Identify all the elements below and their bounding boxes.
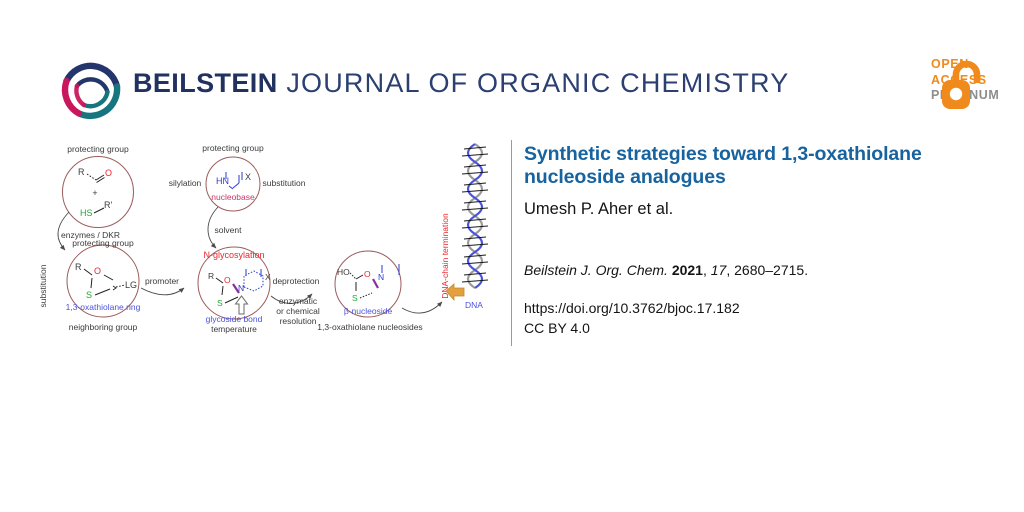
graphical-abstract-scheme: protecting group R O + HS R' enzymes / D… — [34, 136, 504, 351]
atom-S-2: S — [86, 290, 92, 300]
atom-HS-1: HS — [80, 208, 93, 218]
label-deprotection: deprotection — [273, 276, 320, 286]
brand-bold: BEILSTEIN — [133, 68, 278, 98]
arrow-promoter — [141, 288, 184, 295]
label-substitution-right: substitution — [263, 178, 306, 188]
article-doi[interactable]: https://doi.org/10.3762/bjoc.17.182 — [524, 299, 990, 319]
label-temperature: temperature — [211, 324, 257, 334]
atom-S-4: S — [217, 298, 223, 308]
circle-beta-nucleoside: 1,3-oxathiolane nucleosides HO O S N β-n… — [317, 251, 422, 332]
atom-HN-3: HN — [216, 176, 229, 186]
circle-aldehyde-thiol: protecting group R O + HS R' — [63, 144, 134, 228]
beilstein-spiral-logo-svg — [56, 55, 126, 125]
atom-R-4: R — [208, 271, 214, 281]
open-access-badge: OPEN ACCESS PLATINUM — [893, 57, 983, 115]
atom-N-5: N — [378, 272, 384, 282]
plus-sign-1: + — [92, 188, 97, 198]
atom-LG: LG — [125, 280, 137, 290]
label-dna: DNA — [465, 300, 483, 310]
atom-X-3: X — [245, 172, 251, 182]
journal-brand-title: BEILSTEIN JOURNAL OF ORGANIC CHEMISTRY — [133, 68, 789, 99]
citation-comma: , — [703, 262, 707, 278]
atom-R-2: R — [75, 262, 82, 272]
citation-pages: , 2680–2715. — [726, 262, 808, 278]
citation-journal: Beilstein J. Org. Chem. — [524, 262, 668, 278]
page-header: BEILSTEIN JOURNAL OF ORGANIC CHEMISTRY O… — [0, 0, 1024, 132]
circle-n-glycosylation: N-glycosylation temperature R O S N — [198, 247, 271, 334]
atom-S-5: S — [352, 293, 358, 303]
article-citation: Beilstein J. Org. Chem. 2021, 17, 2680–2… — [524, 261, 990, 280]
graphical-abstract-svg: protecting group R O + HS R' enzymes / D… — [34, 136, 504, 351]
article-info: Synthetic strategies toward 1,3-oxathiol… — [524, 143, 990, 338]
vertical-divider — [511, 140, 512, 346]
label-dna-chain-termination: DNA-chain termination — [440, 213, 450, 299]
article-license: CC BY 4.0 — [524, 319, 990, 339]
brand-rest: JOURNAL OF ORGANIC CHEMISTRY — [278, 68, 790, 98]
article-authors: Umesh P. Aher et al. — [524, 199, 990, 220]
atom-O-2: O — [94, 266, 101, 276]
atom-R-1: R — [78, 167, 85, 177]
open-lock-icon — [939, 59, 983, 111]
atom-X-4: X — [265, 272, 271, 282]
label-promoter: promoter — [145, 276, 179, 286]
beilstein-spiral-logo — [56, 55, 126, 125]
atom-O-5: O — [364, 269, 371, 279]
atom-N-4: N — [238, 283, 244, 293]
label-protecting-group-1: protecting group — [67, 144, 129, 154]
arrow-to-dna — [402, 302, 442, 313]
article-doi-license: https://doi.org/10.3762/bjoc.17.182 CC B… — [524, 299, 990, 338]
label-oxathiolane-nucleosides: 1,3-oxathiolane nucleosides — [317, 322, 422, 332]
atom-O-1: O — [105, 168, 112, 178]
label-silylation: silylation — [169, 178, 202, 188]
page-root: BEILSTEIN JOURNAL OF ORGANIC CHEMISTRY O… — [0, 0, 1024, 512]
circle-oxathiolane: protecting group neighboring group R O S… — [66, 238, 141, 332]
dna-helix: DNA-chain termination DNA — [440, 144, 488, 310]
label-enzymatic: enzymatic — [279, 296, 318, 306]
label-nucleobase: nucleobase — [211, 192, 255, 202]
atom-O-4: O — [224, 275, 231, 285]
label-neighboring-group: neighboring group — [69, 322, 138, 332]
atom-Rprime-1: R' — [104, 200, 112, 210]
circle-nucleobase: protecting group HN X nucleobase — [202, 143, 264, 211]
label-protecting-group-3: protecting group — [202, 143, 264, 153]
citation-year: 2021 — [672, 262, 703, 278]
label-oxathiolane-ring: 1,3-oxathiolane ring — [66, 302, 141, 312]
label-substitution-vertical: substitution — [38, 264, 48, 307]
article-title: Synthetic strategies toward 1,3-oxathiol… — [524, 143, 990, 189]
open-lock-icon-svg — [939, 59, 983, 111]
label-resolution: resolution — [280, 316, 317, 326]
citation-volume: 17 — [711, 262, 727, 278]
label-protecting-group-2: protecting group — [72, 238, 134, 248]
label-n-glycosylation: N-glycosylation — [203, 250, 264, 260]
label-glycoside-bond: glycoside bond — [206, 314, 263, 324]
atom-HO-5: HO — [337, 267, 350, 277]
label-beta-nucleoside: β-nucleoside — [344, 306, 393, 316]
label-solvent: solvent — [215, 225, 243, 235]
label-or-chemical: or chemical — [276, 306, 320, 316]
